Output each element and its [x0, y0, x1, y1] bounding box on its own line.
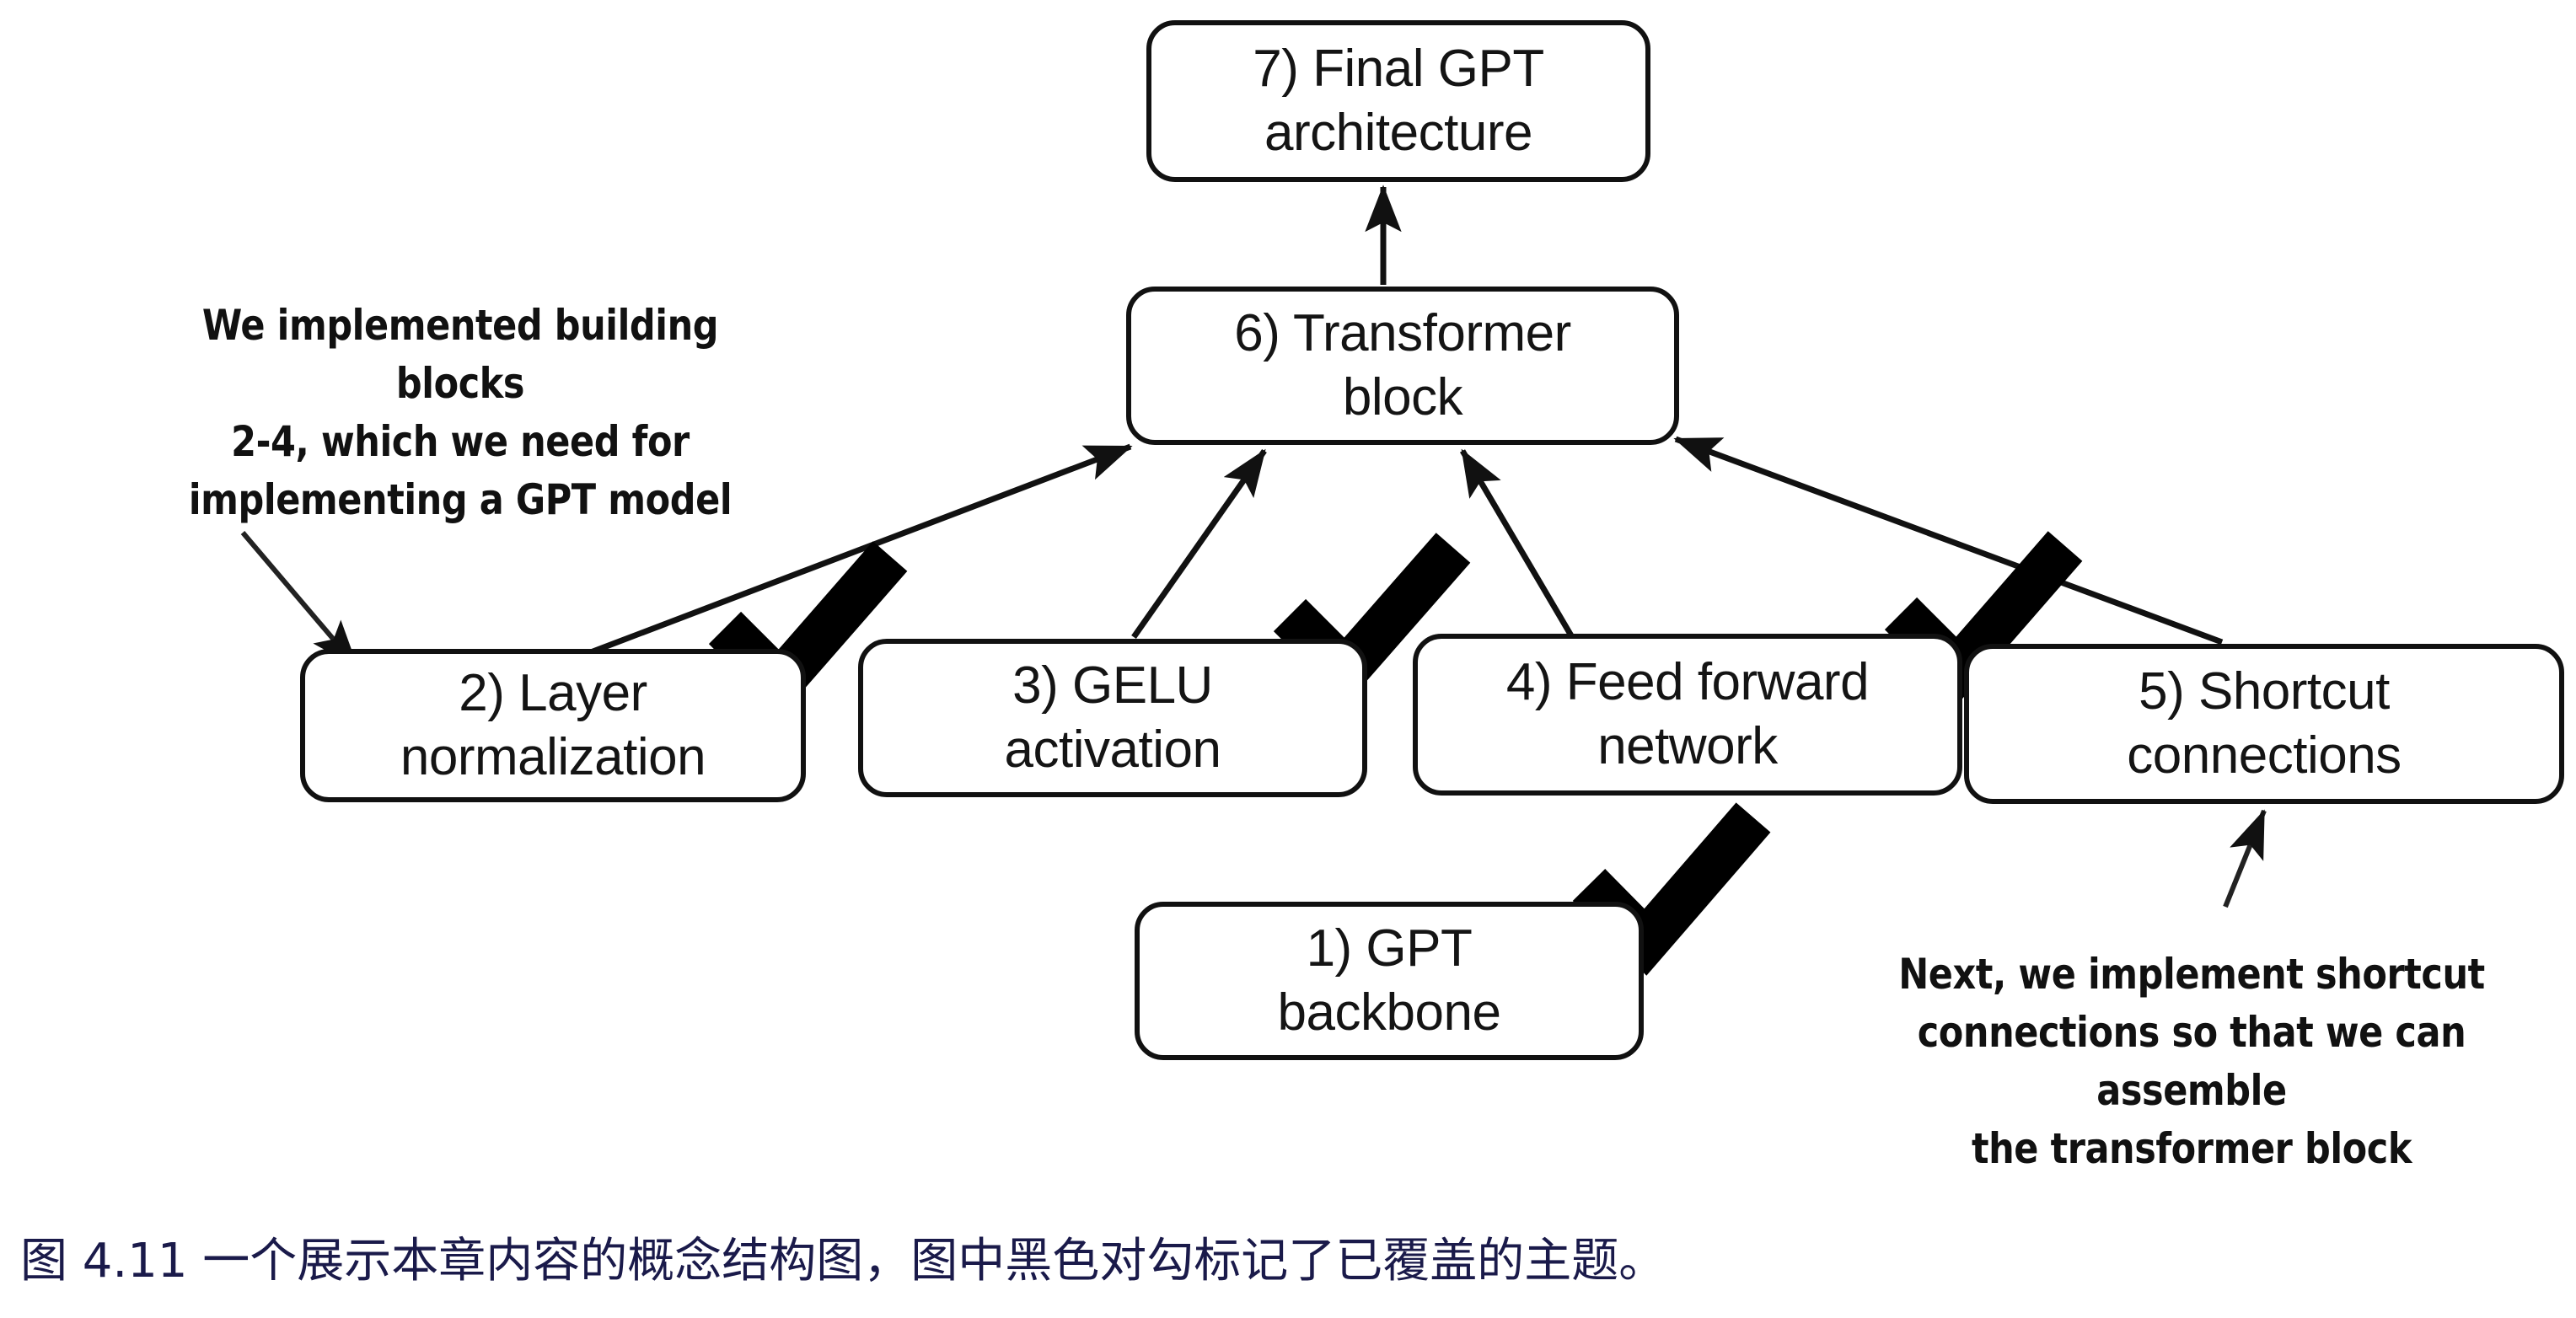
node-gelu-activation[interactable]: 3) GELU activation: [858, 639, 1367, 797]
figure-root: 7) Final GPT architecture 6) Transformer…: [0, 0, 2576, 1318]
figure-caption: 图 4.11 一个展示本章内容的概念结构图，图中黑色对勾标记了已覆盖的主题。: [20, 1232, 2532, 1291]
node-gpt-backbone[interactable]: 1) GPT backbone: [1135, 902, 1644, 1060]
node-layer-normalization[interactable]: 2) Layer normalization: [300, 649, 806, 802]
node-shortcut-connections[interactable]: 5) Shortcut connections: [1964, 644, 2564, 804]
edge-gelu-to-transformer: [1134, 451, 1264, 637]
callout-text-shortcut-connections: Next, we implement shortcut connections …: [1843, 946, 2540, 1178]
node-final-gpt-architecture[interactable]: 7) Final GPT architecture: [1146, 20, 1650, 182]
node-feed-forward-network[interactable]: 4) Feed forward network: [1413, 634, 1962, 796]
node-transformer-block[interactable]: 6) Transformer block: [1126, 287, 1679, 445]
callout-pointer-right: [2225, 811, 2264, 907]
callout-text-building-blocks: We implemented building blocks 2-4, whic…: [134, 297, 786, 529]
edge-shortcut-to-transformer: [1676, 439, 2222, 642]
edge-feedforward-to-transformer: [1462, 451, 1572, 637]
callout-pointer-left: [243, 533, 357, 667]
